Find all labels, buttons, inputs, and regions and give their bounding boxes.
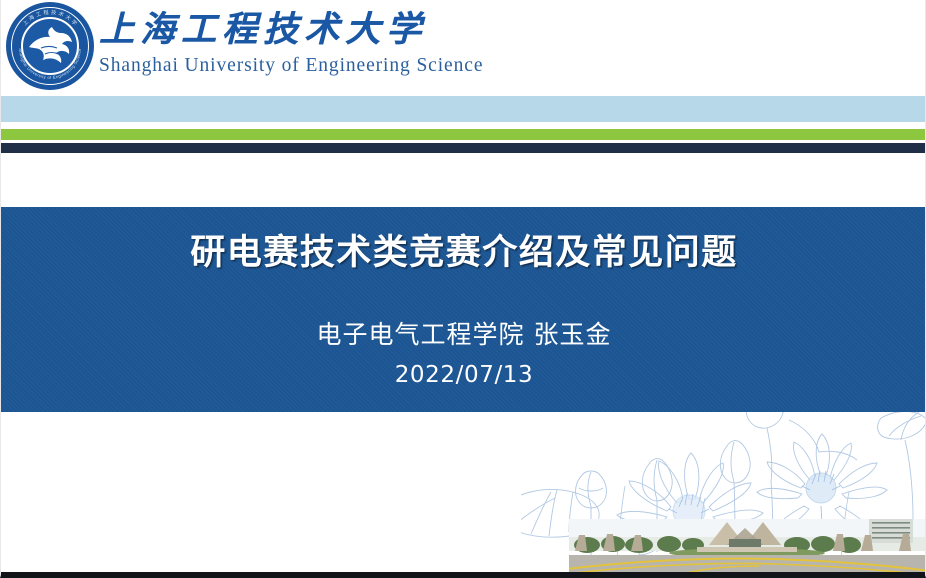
brand-name-block: 上海工程技术大学 Shanghai University of Engineer…	[99, 8, 483, 78]
stripe-green	[1, 129, 926, 140]
university-name-cn: 上海工程技术大学	[99, 8, 483, 52]
university-name-en: Shanghai University of Engineering Scien…	[99, 54, 483, 78]
slide-bottom-edge	[1, 572, 926, 575]
campus-gate-photo	[569, 519, 926, 575]
title-band: 研电赛技术类竞赛介绍及常见问题 电子电气工程学院 张玉金 2022/07/13	[1, 207, 926, 412]
university-seal-logo: 上 海 工 程 技 术 大 学 Shanghai University of E…	[6, 2, 94, 90]
brand-header: 上 海 工 程 技 术 大 学 Shanghai University of E…	[1, 0, 926, 95]
stripe-navy	[1, 143, 926, 153]
dove-icon	[21, 17, 79, 75]
slide-date: 2022/07/13	[1, 362, 926, 388]
title-slide: 上 海 工 程 技 术 大 学 Shanghai University of E…	[0, 0, 926, 578]
slide-title: 研电赛技术类竞赛介绍及常见问题	[1, 224, 926, 275]
campus-gate-illustration	[569, 519, 926, 575]
stripe-light-blue	[1, 96, 926, 122]
slide-presenter: 电子电气工程学院 张玉金	[1, 315, 926, 351]
